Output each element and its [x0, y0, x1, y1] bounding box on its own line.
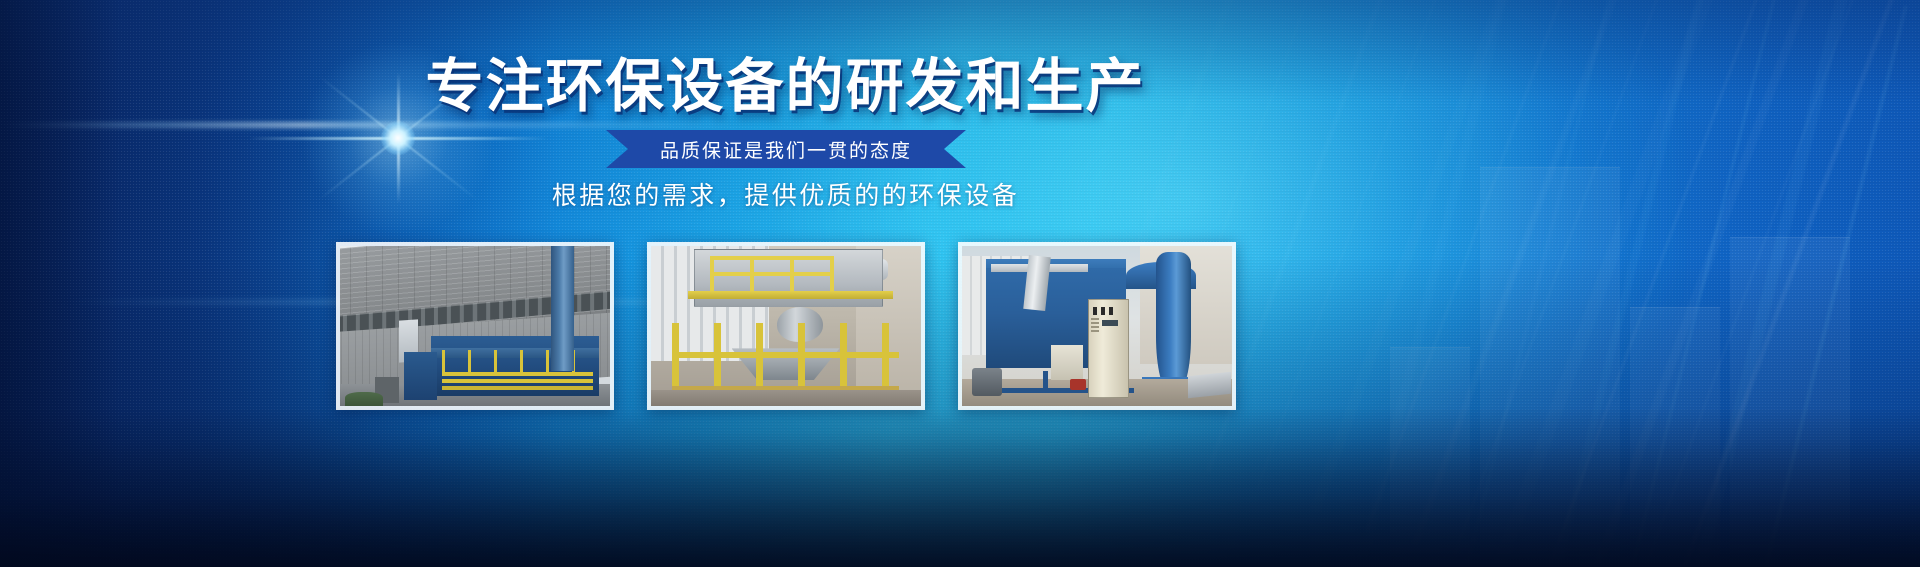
tagline-ribbon: 品质保证是我们一贯的态度 — [606, 130, 966, 168]
hero-banner: 专注环保设备的研发和生产 品质保证是我们一贯的态度 根据您的需求，提供优质的的环… — [0, 0, 1920, 567]
photo-strip — [0, 242, 1571, 410]
product-photo-3[interactable] — [958, 242, 1236, 410]
product-photo-1[interactable] — [336, 242, 614, 410]
banner-content: 专注环保设备的研发和生产 品质保证是我们一贯的态度 根据您的需求，提供优质的的环… — [0, 0, 1920, 567]
page-title: 专注环保设备的研发和生产 — [0, 56, 1571, 117]
product-photo-3-image — [962, 246, 1232, 406]
product-photo-2[interactable] — [647, 242, 925, 410]
product-photo-2-image — [651, 246, 921, 406]
product-photo-1-image — [340, 246, 610, 406]
subtitle: 根据您的需求，提供优质的的环保设备 — [0, 176, 1571, 212]
